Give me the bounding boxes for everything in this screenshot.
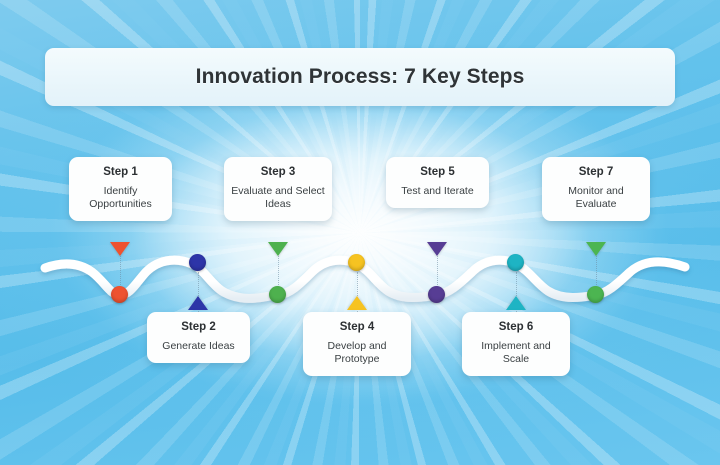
step-description-7: Monitor and Evaluate [548,185,644,211]
infographic-canvas: Innovation Process: 7 Key Steps Step 1 I… [0,0,720,465]
node-dot-step-1[interactable] [111,286,128,303]
step-number-2: Step 2 [153,321,244,333]
step-card-5[interactable]: Step 5 Test and Iterate [386,157,489,208]
marker-triangle-step-5 [427,242,447,256]
step-card-2[interactable]: Step 2 Generate Ideas [147,312,250,363]
marker-triangle-step-3 [268,242,288,256]
marker-triangle-step-2 [188,296,208,310]
node-dot-step-6[interactable] [507,254,524,271]
step-number-1: Step 1 [75,166,166,178]
step-number-7: Step 7 [548,166,644,178]
step-number-3: Step 3 [230,166,326,178]
step-card-4[interactable]: Step 4 Develop and Prototype [303,312,411,376]
node-dot-step-2[interactable] [189,254,206,271]
step-card-7[interactable]: Step 7 Monitor and Evaluate [542,157,650,221]
step-number-6: Step 6 [468,321,564,333]
step-description-6: Implement and Scale [468,340,564,366]
step-card-1[interactable]: Step 1 Identify Opportunities [69,157,172,221]
step-description-3: Evaluate and Select Ideas [230,185,326,211]
node-dot-step-7[interactable] [587,286,604,303]
page-title: Innovation Process: 7 Key Steps [196,65,525,89]
step-card-3[interactable]: Step 3 Evaluate and Select Ideas [224,157,332,221]
step-description-4: Develop and Prototype [309,340,405,366]
step-number-5: Step 5 [392,166,483,178]
marker-triangle-step-1 [110,242,130,256]
marker-triangle-step-7 [586,242,606,256]
marker-triangle-step-4 [347,296,367,310]
step-description-1: Identify Opportunities [75,185,166,211]
step-description-5: Test and Iterate [392,185,483,198]
node-dot-step-3[interactable] [269,286,286,303]
step-card-6[interactable]: Step 6 Implement and Scale [462,312,570,376]
title-banner: Innovation Process: 7 Key Steps [45,48,675,106]
step-number-4: Step 4 [309,321,405,333]
marker-triangle-step-6 [506,296,526,310]
node-dot-step-4[interactable] [348,254,365,271]
step-description-2: Generate Ideas [153,340,244,353]
node-dot-step-5[interactable] [428,286,445,303]
